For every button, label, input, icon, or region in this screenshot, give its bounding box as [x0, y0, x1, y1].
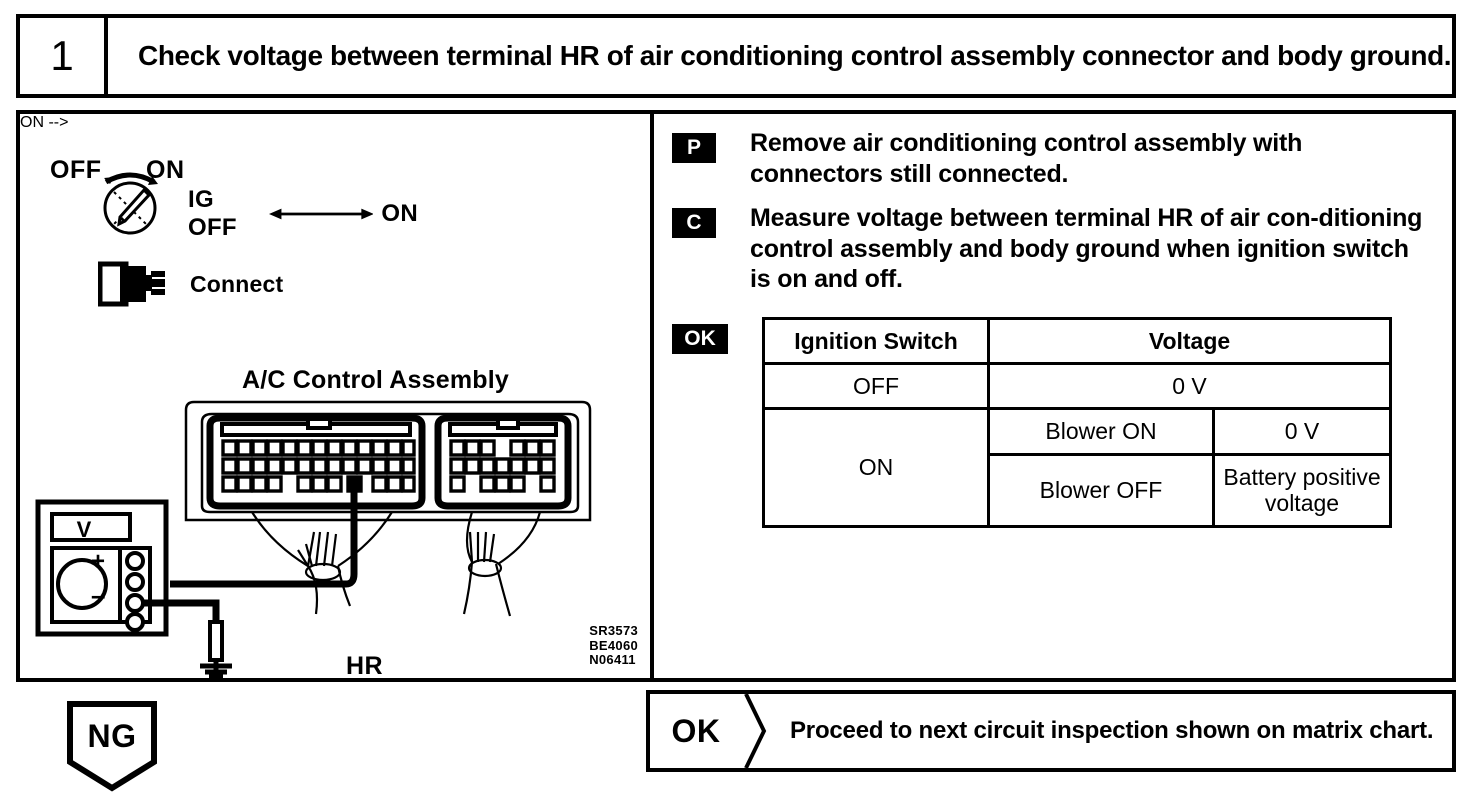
- ok-label: OK: [650, 713, 742, 750]
- instruction-prepare: P Remove air conditioning control assemb…: [672, 128, 1434, 189]
- hr-terminal-label: HR: [346, 652, 383, 681]
- svg-text:+: +: [91, 548, 105, 575]
- table-row: OFF 0 V: [764, 363, 1391, 408]
- service-manual-page: 1 Check voltage between terminal HR of a…: [0, 0, 1472, 808]
- voltage-spec-table: Ignition Switch Voltage OFF 0 V ON Blowe…: [762, 317, 1392, 528]
- step-title: Check voltage between terminal HR of air…: [108, 18, 1452, 94]
- ref-code-3: N06411: [589, 653, 638, 668]
- ref-code-1: SR3573: [589, 624, 638, 639]
- instruction-prepare-text: Remove air conditioning control assembly…: [750, 128, 1434, 189]
- badge-ok: OK: [672, 324, 728, 354]
- step-body: OFF ON ON --> IG OFF: [16, 110, 1456, 682]
- badge-c: C: [672, 208, 716, 238]
- multimeter-icon: + – V: [38, 502, 166, 634]
- ac-control-assembly-drawing: + – V: [20, 114, 654, 682]
- cell-blower-off: Blower OFF: [989, 454, 1214, 526]
- ref-code-2: BE4060: [589, 639, 638, 654]
- step-header: 1 Check voltage between terminal HR of a…: [16, 14, 1456, 98]
- ng-label: NG: [66, 718, 158, 755]
- cell-ignition-on: ON: [764, 409, 989, 526]
- instruction-check: C Measure voltage between terminal HR of…: [672, 203, 1434, 295]
- svg-text:V: V: [77, 517, 92, 542]
- cell-blower-on: Blower ON: [989, 409, 1214, 454]
- diagram-pane: OFF ON ON --> IG OFF: [20, 114, 654, 678]
- wire-harness: [252, 512, 540, 616]
- header-voltage: Voltage: [989, 318, 1391, 363]
- ground-symbol-icon: [200, 622, 232, 677]
- right-connector: [438, 418, 568, 506]
- hr-terminal-pin: [348, 477, 361, 491]
- spec-section: OK Ignition Switch Voltage OFF 0 V ON: [672, 317, 1434, 528]
- table-row: ON Blower ON 0 V: [764, 409, 1391, 454]
- instruction-check-text: Measure voltage between terminal HR of a…: [750, 203, 1434, 295]
- svg-text:–: –: [91, 580, 105, 610]
- instructions-pane: P Remove air conditioning control assemb…: [654, 114, 1452, 678]
- step-number: 1: [20, 18, 108, 94]
- figure-reference-codes: SR3573 BE4060 N06411: [589, 624, 638, 668]
- header-ignition-switch: Ignition Switch: [764, 318, 989, 363]
- cell-voltage-off: 0 V: [989, 363, 1391, 408]
- table-header-row: Ignition Switch Voltage: [764, 318, 1391, 363]
- cell-voltage-blower-on: 0 V: [1214, 409, 1391, 454]
- badge-p: P: [672, 133, 716, 163]
- left-connector: [210, 418, 422, 506]
- ok-result-text: Proceed to next circuit inspection shown…: [790, 716, 1433, 745]
- chevron-right-icon: [742, 694, 768, 768]
- ok-result-box: OK Proceed to next circuit inspection sh…: [646, 690, 1456, 772]
- cell-voltage-blower-off: Battery positive voltage: [1214, 454, 1391, 526]
- cell-ignition-off: OFF: [764, 363, 989, 408]
